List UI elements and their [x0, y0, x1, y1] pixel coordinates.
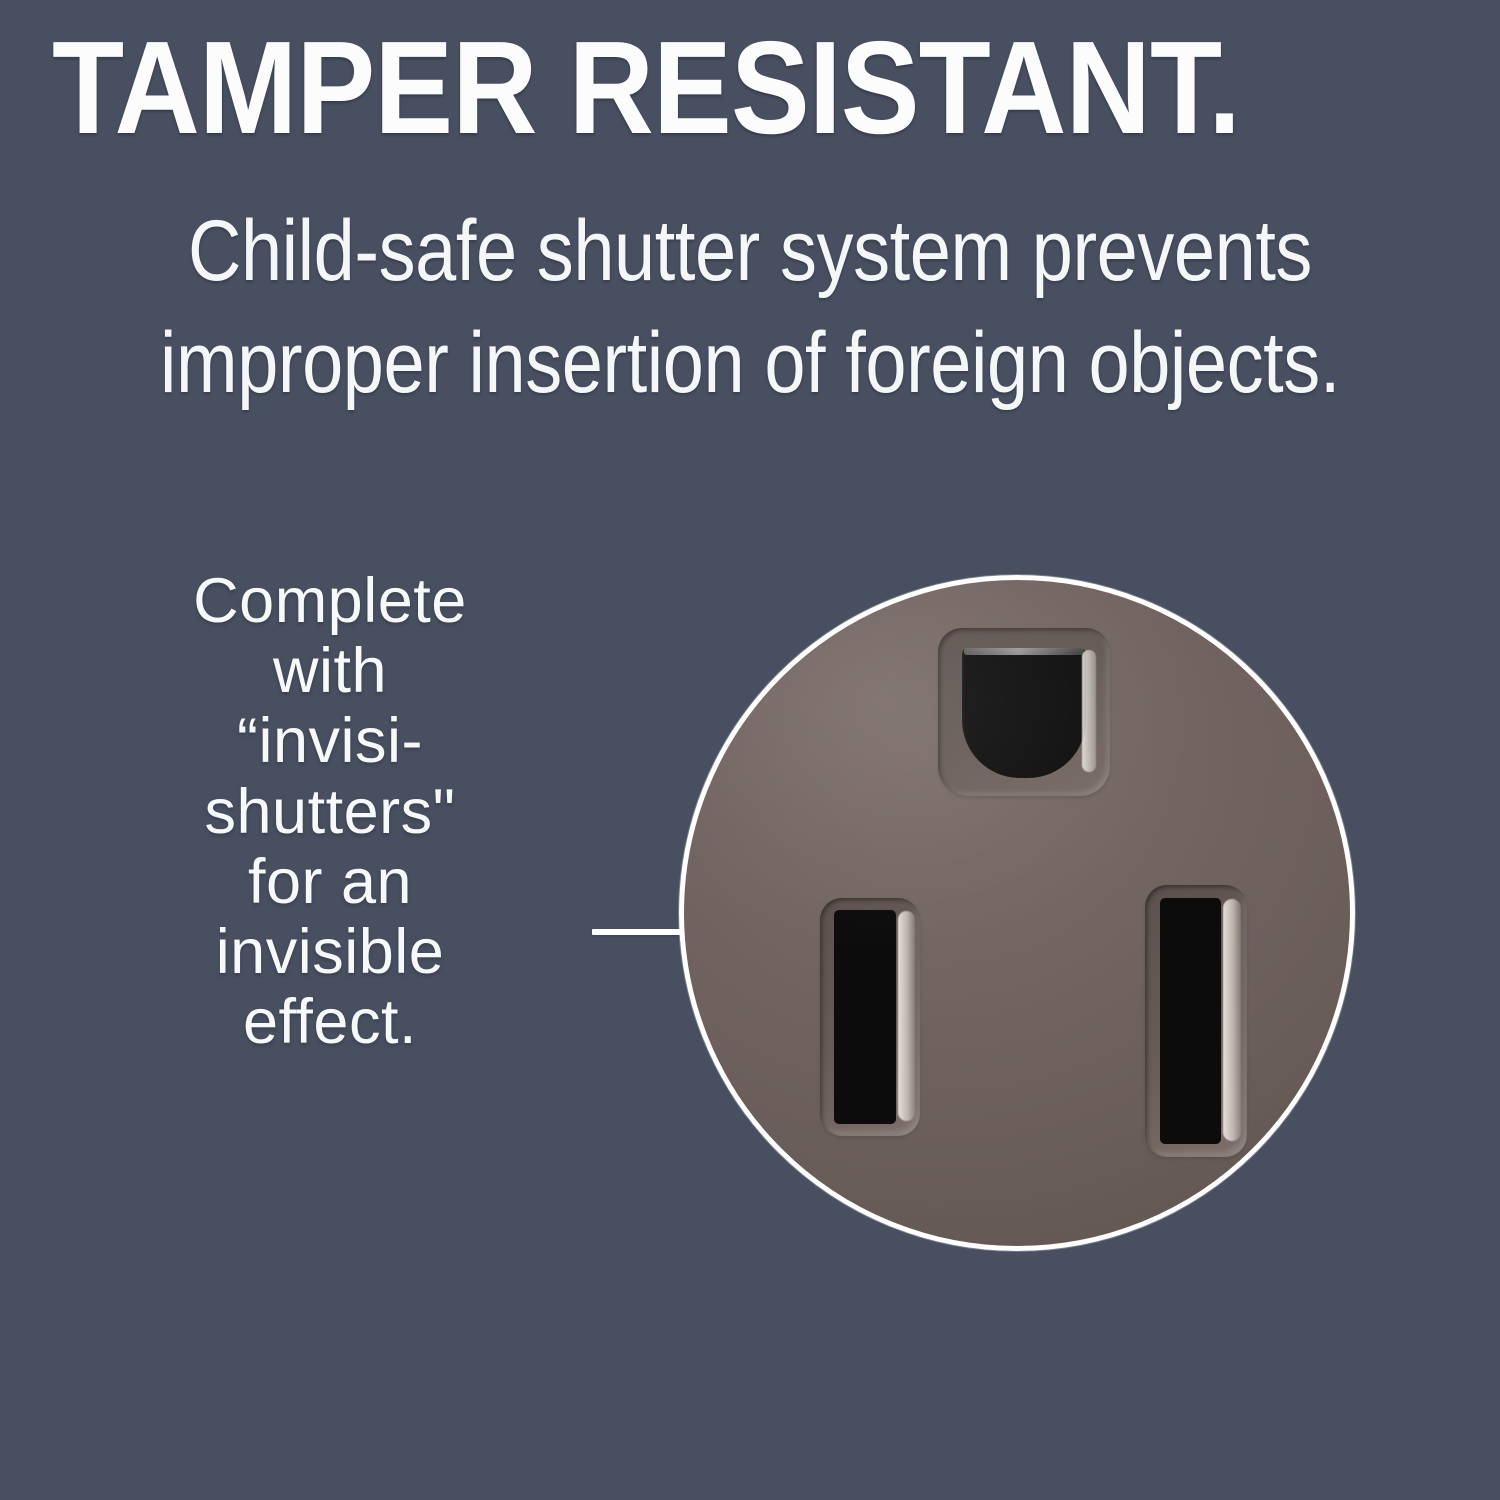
ground-hole-edge-highlight: [1082, 650, 1096, 772]
magnifier-circle: [679, 575, 1355, 1251]
ground-hole-top-highlight: [964, 648, 1084, 655]
hot-slot-opening: [1160, 898, 1221, 1144]
neutral-slot-edge-highlight: [898, 911, 915, 1121]
ground-hole-icon: [962, 648, 1086, 778]
callout-caption: Complete with “invisi- shutters" for an …: [110, 566, 550, 1058]
caption-line-5: for an: [110, 847, 550, 917]
neutral-slot-opening: [834, 910, 896, 1124]
subtitle-line-1: Child-safe shutter system prevents: [105, 196, 1395, 308]
ground-hole-recess: [938, 628, 1110, 796]
caption-line-6: invisible: [110, 917, 550, 987]
caption-line-2: with: [110, 636, 550, 706]
hot-slot-edge-highlight: [1223, 899, 1241, 1141]
subtitle-line-2: improper insertion of foreign objects.: [105, 308, 1395, 420]
subtitle: Child-safe shutter system prevents impro…: [0, 196, 1500, 420]
caption-line-7: effect.: [110, 987, 550, 1057]
caption-line-1: Complete: [110, 566, 550, 636]
caption-line-3: “invisi-: [110, 706, 550, 776]
infographic-canvas: TAMPER RESISTANT. Child-safe shutter sys…: [0, 0, 1500, 1500]
page-title: TAMPER RESISTANT.: [52, 22, 1323, 154]
caption-line-4: shutters": [110, 777, 550, 847]
